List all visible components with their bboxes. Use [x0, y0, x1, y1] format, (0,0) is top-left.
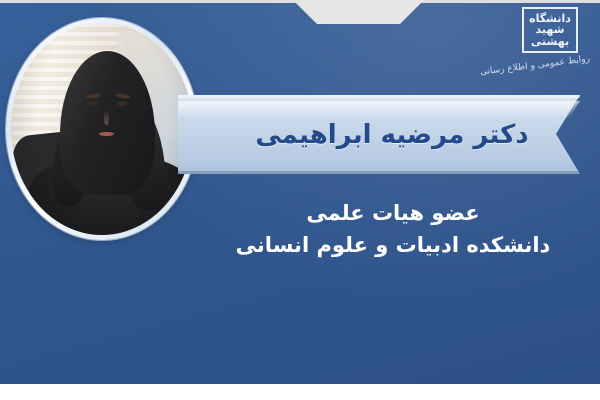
page-title: دکتر مرضیه ابراهیمی: [178, 95, 580, 174]
university-logo-mark: دانشگاه شهید بهشتی: [522, 7, 578, 53]
profile-banner-card: دکتر مرضیه ابراهیمی عضو هیات علمی دانشکد…: [0, 0, 600, 400]
photo-vignette: [11, 23, 193, 235]
role-faculty-text: دانشکده ادبیات و علوم انسانی: [198, 230, 588, 262]
role-position-text: عضو هیات علمی: [198, 198, 588, 230]
role-block: عضو هیات علمی دانشکده ادبیات و علوم انسا…: [198, 198, 588, 262]
avatar-photo: [11, 23, 193, 235]
logo-word-3: بهشتی: [531, 36, 569, 48]
bottom-white-strip: [0, 384, 600, 400]
logo-tagline-text: روابط عمومی و اطلاع رسانی: [479, 54, 591, 78]
name-ribbon: دکتر مرضیه ابراهیمی: [178, 95, 580, 174]
avatar: [6, 18, 198, 240]
university-logo: دانشگاه شهید بهشتی روابط عمومی و اطلاع ر…: [474, 4, 592, 84]
